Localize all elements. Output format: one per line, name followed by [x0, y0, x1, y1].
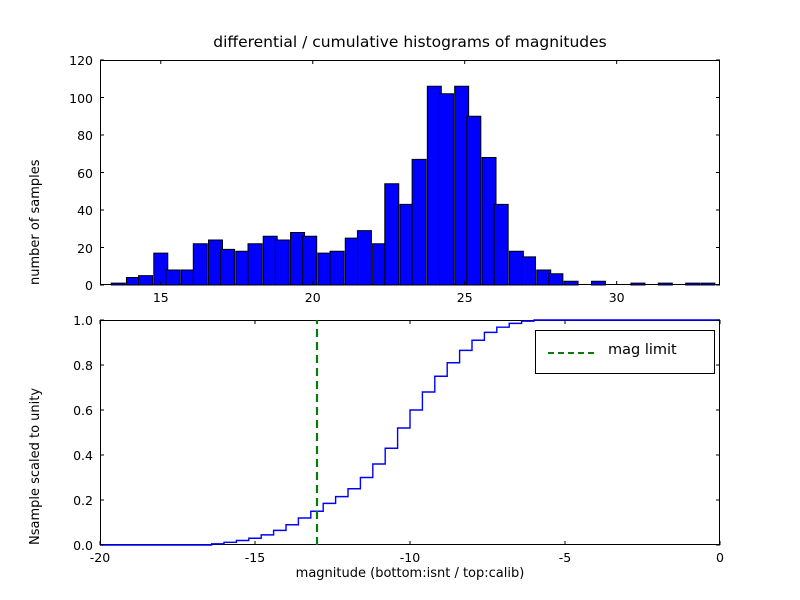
legend-maglimit-label: mag limit	[608, 342, 677, 358]
bottom-cumulative-plot	[0, 0, 800, 600]
legend: mag limit	[535, 330, 715, 374]
figure-canvas: differential / cumulative histograms of …	[0, 0, 800, 600]
legend-maglimit-swatch	[548, 352, 594, 354]
